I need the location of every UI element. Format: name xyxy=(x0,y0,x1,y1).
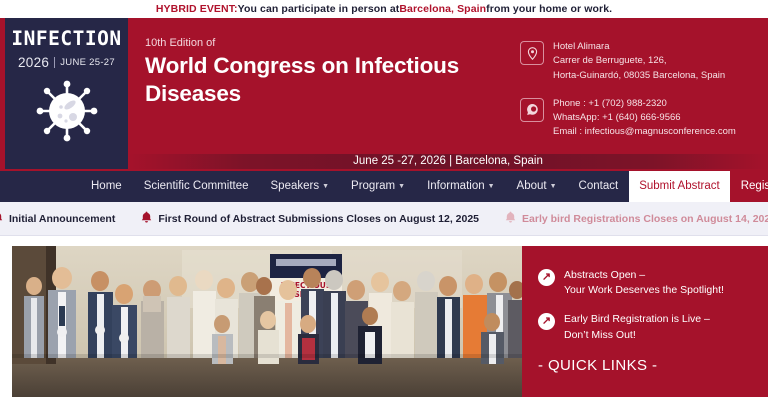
arrow-up-right-icon: ↗ xyxy=(538,313,555,330)
venue-lines: Hotel Alimara Carrer de Berruguete, 126,… xyxy=(553,40,725,83)
announcement-text: First Round of Abstract Submissions Clos… xyxy=(158,213,479,225)
nav-item-information[interactable]: Information ▼ xyxy=(416,169,505,202)
logo-year: 2026 xyxy=(18,55,49,70)
announcement-ticker: Initial Announcement First Round of Abst… xyxy=(0,202,768,236)
announcement-item[interactable]: First Round of Abstract Submissions Clos… xyxy=(141,211,479,226)
nav-label: Submit Abstract xyxy=(639,180,720,192)
quick-link-line2: Don’t Miss Out! xyxy=(564,328,710,343)
chevron-down-icon: ▼ xyxy=(550,183,557,190)
nav-label: Contact xyxy=(579,180,619,192)
quick-link-line1: Early Bird Registration is Live – xyxy=(564,312,710,327)
chevron-down-icon: ▼ xyxy=(398,183,405,190)
arrow-up-right-icon: ↗ xyxy=(538,269,555,286)
edition-label: 10th Edition of xyxy=(145,37,520,49)
hybrid-mid: You can participate in person at xyxy=(238,3,400,15)
contact-lines: Phone : +1 (702) 988-2320 WhatsApp: +1 (… xyxy=(553,97,736,140)
nav-item-contact[interactable]: Contact xyxy=(568,169,630,202)
hero-section: INFECTIOUS DISEASES xyxy=(0,236,768,404)
event-date-location: June 25 -27, 2026 | Barcelona, Spain xyxy=(128,154,768,170)
quick-link-text: Abstracts Open – Your Work Deserves the … xyxy=(564,268,724,298)
page-root: HYBRID EVENT: You can participate in per… xyxy=(0,0,768,404)
nav-item-scientific-committee[interactable]: Scientific Committee xyxy=(133,169,260,202)
whatsapp-line: WhatsApp: +1 (640) 666-9566 xyxy=(553,111,736,125)
nav-item-submit-abstract[interactable]: Submit Abstract xyxy=(629,169,730,202)
nav-item-speakers[interactable]: Speakers ▼ xyxy=(260,169,341,202)
announcement-item[interactable]: Initial Announcement xyxy=(0,211,115,226)
announcement-text: Initial Announcement xyxy=(9,213,115,225)
header-contact-block: Hotel Alimara Carrer de Berruguete, 126,… xyxy=(520,37,768,154)
hybrid-prefix: HYBRID EVENT: xyxy=(156,3,238,15)
logo-divider xyxy=(54,57,55,68)
nav-item-about[interactable]: About ▼ xyxy=(506,169,568,202)
conference-group-photo: INFECTIOUS DISEASES xyxy=(12,246,522,397)
chevron-down-icon: ▼ xyxy=(488,183,495,190)
logo-wordmark: INFECTION xyxy=(11,29,121,49)
header-content: 10th Edition of World Congress on Infect… xyxy=(128,18,768,169)
venue-city: Horta-Guinardó, 08035 Barcelona, Spain xyxy=(553,69,725,83)
nav-item-register[interactable]: Register xyxy=(730,169,768,202)
chevron-down-icon: ▼ xyxy=(322,183,329,190)
header-main: 10th Edition of World Congress on Infect… xyxy=(128,18,768,154)
venue-info: Hotel Alimara Carrer de Berruguete, 126,… xyxy=(520,40,758,83)
quick-links-panel: ↗ Abstracts Open – Your Work Deserves th… xyxy=(522,246,768,397)
announcement-text: Early bird Registrations Closes on Augus… xyxy=(522,213,768,225)
nav-item-home[interactable]: Home xyxy=(80,169,133,202)
contact-info: Phone : +1 (702) 988-2320 WhatsApp: +1 (… xyxy=(520,97,758,140)
nav-item-program[interactable]: Program ▼ xyxy=(340,169,416,202)
location-pin-icon xyxy=(520,41,544,65)
hybrid-suffix: from your home or work. xyxy=(486,3,612,15)
venue-name: Hotel Alimara xyxy=(553,40,725,54)
page-title: World Congress on Infectious Diseases xyxy=(145,52,475,108)
quick-link-line1: Abstracts Open – xyxy=(564,268,724,283)
nav-label: Information xyxy=(427,180,485,192)
nav-label: Program xyxy=(351,180,395,192)
quick-link-early-bird[interactable]: ↗ Early Bird Registration is Live – Don’… xyxy=(538,312,768,342)
main-navigation: Home Scientific Committee Speakers ▼ Pro… xyxy=(0,169,768,202)
hybrid-location: Barcelona, Spain xyxy=(399,3,486,15)
nav-label: About xyxy=(517,180,547,192)
quick-link-abstracts-open[interactable]: ↗ Abstracts Open – Your Work Deserves th… xyxy=(538,268,768,298)
whatsapp-icon xyxy=(520,98,544,122)
venue-street: Carrer de Berruguete, 126, xyxy=(553,54,725,68)
quick-link-line2: Your Work Deserves the Spotlight! xyxy=(564,283,724,298)
nav-label: Home xyxy=(91,180,122,192)
virus-icon xyxy=(35,79,99,148)
quick-links-title: - QUICK LINKS - xyxy=(538,357,768,374)
nav-label: Register xyxy=(741,180,768,192)
bell-icon xyxy=(141,211,152,226)
bell-icon xyxy=(0,211,3,226)
logo-dateline: 2026 JUNE 25-27 xyxy=(18,55,115,70)
hybrid-event-banner: HYBRID EVENT: You can participate in per… xyxy=(0,0,768,18)
header-title-block: 10th Edition of World Congress on Infect… xyxy=(145,37,520,154)
logo-dates: JUNE 25-27 xyxy=(60,57,115,68)
nav-label: Scientific Committee xyxy=(144,180,249,192)
email-line[interactable]: Email : infectious@magnusconference.com xyxy=(553,125,736,139)
bell-icon xyxy=(505,211,516,226)
nav-label: Speakers xyxy=(271,180,320,192)
quick-link-text: Early Bird Registration is Live – Don’t … xyxy=(564,312,710,342)
site-header: INFECTION 2026 JUNE 25-27 xyxy=(0,18,768,169)
phone-line: Phone : +1 (702) 988-2320 xyxy=(553,97,736,111)
event-logo[interactable]: INFECTION 2026 JUNE 25-27 xyxy=(5,18,128,169)
announcement-item[interactable]: Early bird Registrations Closes on Augus… xyxy=(505,211,768,226)
